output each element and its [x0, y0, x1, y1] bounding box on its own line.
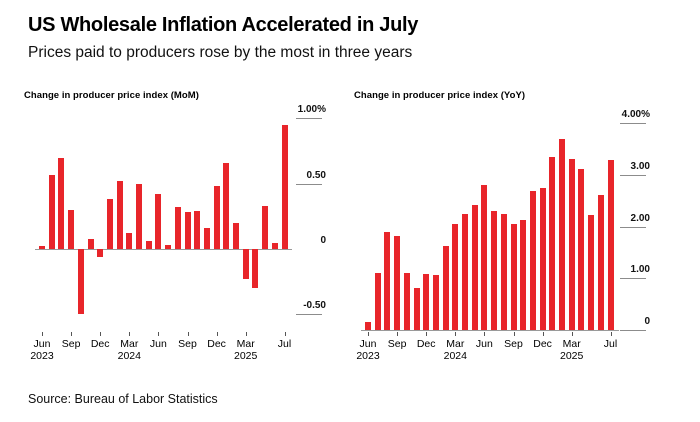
bar: [252, 249, 258, 288]
bar: [520, 220, 526, 330]
x-axis-tick-label: Jun: [476, 338, 493, 350]
x-axis-tick: [455, 332, 456, 336]
bar: [243, 249, 249, 279]
x-axis-tick: [368, 332, 369, 336]
x-axis-tick-label: Sep: [388, 338, 407, 350]
bar: [501, 214, 507, 330]
bar: [423, 274, 429, 330]
y-axis-tick-label: 0: [616, 316, 650, 327]
bar: [262, 206, 268, 249]
bar: [462, 214, 468, 330]
y-gridline: [620, 278, 646, 279]
y-axis-tick-label: 4.00%: [616, 109, 650, 120]
bar: [559, 139, 565, 330]
x-axis-tick: [611, 332, 612, 336]
bar: [365, 322, 371, 330]
bar: [107, 199, 113, 249]
x-axis-tick: [158, 332, 159, 336]
bar: [443, 246, 449, 330]
bar: [97, 249, 103, 257]
bar: [204, 228, 210, 249]
bar: [394, 236, 400, 330]
bar: [233, 223, 239, 249]
x-axis-tick-label: Dec: [91, 338, 110, 350]
y-axis-tick-label: 3.00: [616, 161, 650, 172]
bar: [433, 275, 439, 330]
x-axis-tick: [188, 332, 189, 336]
x-axis-tick: [129, 332, 130, 336]
x-axis-tick-label: Jun2023: [30, 338, 53, 362]
x-axis-tick: [217, 332, 218, 336]
bar: [452, 224, 458, 330]
bar: [578, 169, 584, 330]
x-axis-tick-label: Mar2024: [444, 338, 467, 362]
bar: [414, 288, 420, 330]
bar: [598, 195, 604, 330]
x-axis-tick-label: Sep: [178, 338, 197, 350]
x-axis-tick-label: Jul: [604, 338, 617, 350]
bar: [194, 211, 200, 249]
bar: [165, 245, 171, 249]
bar: [549, 157, 555, 330]
bar: [49, 175, 55, 249]
y-axis-tick-label: 0.50: [292, 170, 326, 181]
x-axis-tick-label: Mar2025: [560, 338, 583, 362]
x-axis-tick: [426, 332, 427, 336]
x-axis-tick-label: Dec: [417, 338, 436, 350]
chart-title-mom: Change in producer price index (MoM): [24, 90, 348, 101]
bar: [78, 249, 84, 314]
x-axis-tick: [514, 332, 515, 336]
y-gridline: [296, 314, 322, 315]
y-gridline: [296, 184, 322, 185]
plot-area-mom: 1.00%0.500-0.50: [18, 108, 348, 358]
x-axis-tick: [285, 332, 286, 336]
x-axis-tick: [572, 332, 573, 336]
bar: [481, 185, 487, 330]
bar: [588, 215, 594, 330]
bar: [155, 194, 161, 249]
x-axis-tick-label: Sep: [62, 338, 81, 350]
bar: [540, 188, 546, 330]
bar: [146, 241, 152, 249]
y-gridline: [620, 123, 646, 124]
x-axis-tick-label: Dec: [207, 338, 226, 350]
charts-container: Change in producer price index (MoM) 1.0…: [0, 90, 700, 365]
x-axis-tick: [71, 332, 72, 336]
x-axis-tick-label: Jun: [150, 338, 167, 350]
plot-area-yoy: 4.00%3.002.001.000: [348, 108, 683, 358]
x-axis-year-label: 2023: [30, 350, 53, 362]
y-axis-tick-label: 1.00%: [292, 104, 326, 115]
x-axis-year-label: 2025: [560, 350, 583, 362]
x-axis-tick: [397, 332, 398, 336]
x-axis-tick-label: Dec: [533, 338, 552, 350]
x-axis-tick-label: Mar2024: [118, 338, 141, 362]
chart-panel-yoy: Change in producer price index (YoY) 4.0…: [348, 90, 683, 365]
bar: [223, 163, 229, 249]
y-axis-tick-label: 0: [292, 235, 326, 246]
bar: [282, 125, 288, 249]
page-title: US Wholesale Inflation Accelerated in Ju…: [28, 14, 700, 37]
bar: [39, 246, 45, 249]
y-gridline: [620, 227, 646, 228]
page-subtitle: Prices paid to producers rose by the mos…: [28, 44, 700, 63]
x-axis-tick: [484, 332, 485, 336]
bar: [136, 184, 142, 249]
bar: [530, 191, 536, 330]
x-axis-year-label: 2024: [444, 350, 467, 362]
y-gridline: [296, 118, 322, 119]
bar: [491, 211, 497, 330]
x-axis-tick: [42, 332, 43, 336]
chart-panel-mom: Change in producer price index (MoM) 1.0…: [18, 90, 348, 365]
y-gridline: [620, 175, 646, 176]
x-axis-tick: [246, 332, 247, 336]
bar: [68, 210, 74, 249]
bar: [185, 212, 191, 249]
bar: [404, 273, 410, 330]
x-axis-year-label: 2023: [356, 350, 379, 362]
bar: [126, 233, 132, 249]
bar: [175, 207, 181, 249]
source-note: Source: Bureau of Labor Statistics: [28, 392, 218, 406]
x-axis-tick-label: Mar2025: [234, 338, 257, 362]
bar: [117, 181, 123, 249]
bar: [384, 232, 390, 330]
bar: [375, 273, 381, 330]
y-axis-tick-label: -0.50: [292, 300, 326, 311]
chart-title-yoy: Change in producer price index (YoY): [354, 90, 683, 101]
x-axis-tick: [543, 332, 544, 336]
y-axis-tick-label: 2.00: [616, 213, 650, 224]
bar: [511, 224, 517, 330]
x-axis-tick-label: Jun2023: [356, 338, 379, 362]
x-axis-tick-label: Sep: [504, 338, 523, 350]
y-axis-tick-label: 1.00: [616, 264, 650, 275]
bar: [608, 160, 614, 330]
x-axis-year-label: 2024: [118, 350, 141, 362]
bar: [472, 205, 478, 330]
bar: [58, 158, 64, 249]
y-gridline: [620, 330, 646, 331]
bar: [214, 186, 220, 249]
x-axis-year-label: 2025: [234, 350, 257, 362]
x-axis-tick-label: Jul: [278, 338, 291, 350]
zero-baseline: [361, 330, 619, 331]
x-axis-tick: [100, 332, 101, 336]
bar: [88, 239, 94, 249]
bar: [569, 159, 575, 330]
chart-header: US Wholesale Inflation Accelerated in Ju…: [0, 0, 700, 63]
bar: [272, 243, 278, 250]
